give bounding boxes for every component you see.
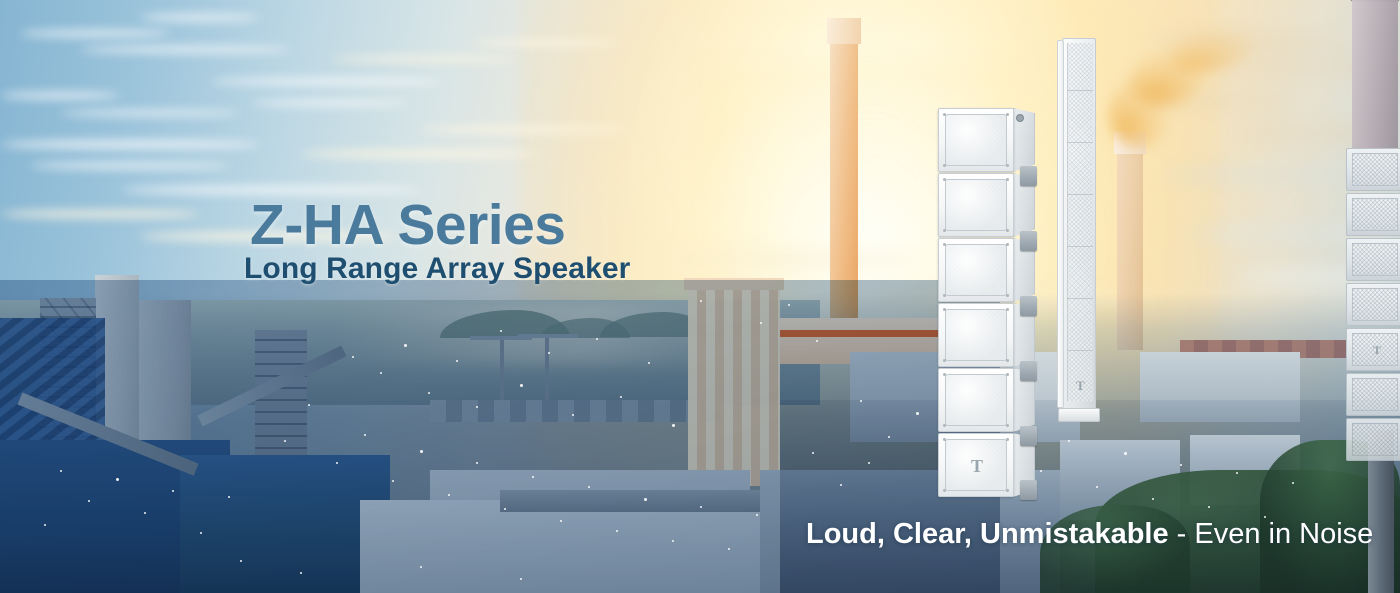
speaker-array-secondary: T	[1338, 148, 1400, 478]
cloud	[140, 14, 260, 21]
rigging-bracket	[1020, 296, 1037, 316]
hero-banner: T T T	[0, 0, 1400, 593]
rigging-bracket	[1020, 480, 1037, 500]
column-speaker-grille	[1067, 43, 1093, 401]
speaker-module: T	[1346, 328, 1400, 371]
toa-brand-logo: T	[1076, 378, 1084, 394]
toa-brand-logo: T	[1373, 343, 1380, 358]
speaker-grille	[1352, 153, 1398, 186]
speaker-module	[938, 303, 1014, 367]
speaker-grille	[945, 309, 1007, 361]
speaker-grille	[1352, 378, 1398, 411]
rigging-bracket	[1020, 361, 1037, 381]
cloud	[470, 40, 620, 46]
column-speaker-base	[1058, 408, 1100, 422]
column-speaker: T	[1056, 38, 1102, 438]
speaker-module	[938, 173, 1014, 237]
cloud	[300, 150, 540, 158]
page-title: Z-HA Series	[250, 197, 566, 254]
cloud	[0, 92, 120, 99]
smokestack-cap	[827, 18, 861, 44]
cloud	[60, 110, 240, 116]
cloud	[420, 126, 630, 133]
speaker-module	[1346, 373, 1400, 416]
speaker-module	[1346, 193, 1400, 236]
cloud	[80, 46, 290, 53]
storage-tank	[1352, 0, 1398, 167]
speaker-module	[938, 368, 1014, 432]
speaker-module	[1346, 148, 1400, 191]
column-seam	[1067, 246, 1093, 247]
speaker-grille	[1352, 423, 1398, 456]
cloud	[210, 78, 440, 85]
column-speaker-edge	[1057, 40, 1064, 408]
column-seam	[1067, 90, 1093, 91]
rigging-bracket	[1020, 426, 1037, 446]
speaker-grille	[945, 114, 1007, 166]
speaker-module	[938, 238, 1014, 302]
speaker-grille	[945, 244, 1007, 296]
column-seam	[1067, 142, 1093, 143]
speaker-array-main: T	[938, 108, 1030, 498]
tagline-bold: Loud, Clear, Unmistakable	[806, 518, 1169, 550]
page-subtitle: Long Range Array Speaker	[244, 252, 630, 286]
rigging-bracket	[1020, 231, 1037, 251]
speaker-grille	[945, 374, 1007, 426]
speaker-module	[1346, 283, 1400, 326]
column-seam	[1067, 350, 1093, 351]
cloud	[30, 162, 230, 169]
cloud	[330, 56, 520, 62]
speaker-module	[1346, 418, 1400, 461]
speaker-module	[938, 108, 1014, 172]
cloud	[0, 140, 260, 149]
column-seam	[1067, 194, 1093, 195]
speaker-module: T	[938, 433, 1014, 497]
toa-brand-logo: T	[971, 456, 982, 477]
speaker-grille	[1352, 243, 1398, 276]
cloud	[660, 252, 920, 266]
cloud	[250, 100, 410, 106]
speaker-grille	[1352, 198, 1398, 231]
speaker-grille	[945, 179, 1007, 231]
tagline-rest: - Even in Noise	[1169, 518, 1374, 550]
column-seam	[1067, 298, 1093, 299]
tagline: Loud, Clear, Unmistakable - Even in Nois…	[806, 518, 1373, 551]
cloud	[20, 30, 170, 37]
cloud	[0, 210, 200, 218]
rigging-pin	[1016, 114, 1024, 122]
speaker-grille	[1352, 288, 1398, 321]
speaker-module	[1346, 238, 1400, 281]
rigging-bracket	[1020, 166, 1037, 186]
